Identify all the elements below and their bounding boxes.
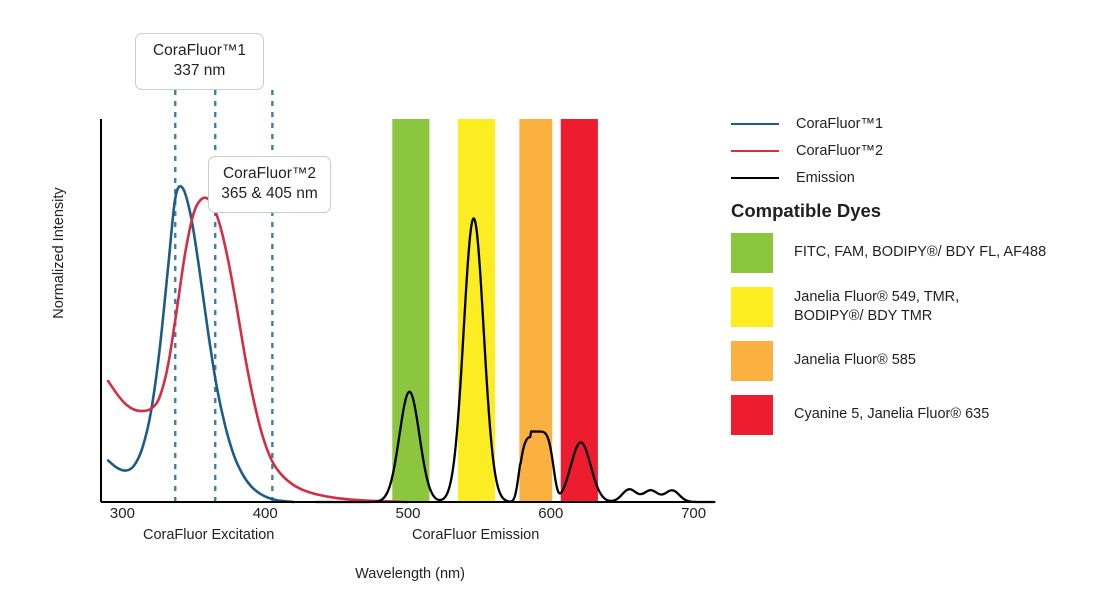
range-label-excitation: CoraFluor Excitation <box>143 527 274 543</box>
dye-item-4: Cyanine 5, Janelia Fluor® 635 <box>731 395 1091 435</box>
spectra-figure: CoraFluor™1 337 nm CoraFluor™2 365 & 405… <box>0 0 1110 612</box>
legend-item-label: CoraFluor™2 <box>796 143 883 159</box>
dye-item-2: Janelia Fluor® 549, TMR,BODIPY®/ BDY TMR <box>731 287 1091 327</box>
legend-item-label: Emission <box>796 170 855 186</box>
curve-emission <box>315 218 714 502</box>
dye-color-swatch <box>731 233 773 273</box>
legend-line-swatch <box>731 150 779 152</box>
compatible-dyes-list: FITC, FAM, BODIPY®/ BDY FL, AF488Janelia… <box>731 233 1091 449</box>
dye-color-swatch <box>731 341 773 381</box>
x-tick-500: 500 <box>378 505 438 522</box>
y-axis-title: Normalized Intensity <box>51 173 67 333</box>
series-legend: CoraFluor™1CoraFluor™2Emission <box>731 110 1071 191</box>
x-tick-400: 400 <box>235 505 295 522</box>
legend-line-swatch <box>731 123 779 125</box>
callout-cf2-line2: 365 & 405 nm <box>221 184 318 204</box>
legend-item-2: CoraFluor™2 <box>731 137 1071 164</box>
dye-item-label: Cyanine 5, Janelia Fluor® 635 <box>794 405 989 424</box>
spectra-plot <box>0 0 760 560</box>
curve-corafluor-1 <box>108 186 294 502</box>
x-tick-300: 300 <box>92 505 152 522</box>
callout-corafluor-2: CoraFluor™2 365 & 405 nm <box>208 156 331 213</box>
dye-item-3: Janelia Fluor® 585 <box>731 341 1091 381</box>
dye-item-label: FITC, FAM, BODIPY®/ BDY FL, AF488 <box>794 243 1046 262</box>
curve-corafluor-2 <box>108 198 408 502</box>
dye-item-label: Janelia Fluor® 585 <box>794 351 916 370</box>
callout-cf1-line1: CoraFluor™1 <box>148 41 251 61</box>
dye-item-label: Janelia Fluor® 549, TMR,BODIPY®/ BDY TMR <box>794 288 959 327</box>
callout-corafluor-1: CoraFluor™1 337 nm <box>135 33 264 90</box>
legend-item-label: CoraFluor™1 <box>796 116 883 132</box>
dye-item-line1: FITC, FAM, BODIPY®/ BDY FL, AF488 <box>794 243 1046 262</box>
callout-cf2-line1: CoraFluor™2 <box>221 164 318 184</box>
legend-item-1: CoraFluor™1 <box>731 110 1071 137</box>
legend-item-3: Emission <box>731 164 1071 191</box>
dye-item-line2: BODIPY®/ BDY TMR <box>794 307 959 326</box>
x-axis-title: Wavelength (nm) <box>0 566 820 582</box>
x-tick-700: 700 <box>664 505 724 522</box>
dye-color-swatch <box>731 287 773 327</box>
dye-item-1: FITC, FAM, BODIPY®/ BDY FL, AF488 <box>731 233 1091 273</box>
compatible-dyes-title: Compatible Dyes <box>731 200 881 222</box>
yellow-band <box>458 119 495 502</box>
dye-color-swatch <box>731 395 773 435</box>
dye-item-line1: Cyanine 5, Janelia Fluor® 635 <box>794 405 989 424</box>
x-tick-600: 600 <box>521 505 581 522</box>
legend-line-swatch <box>731 177 779 179</box>
range-label-emission: CoraFluor Emission <box>412 527 539 543</box>
dye-item-line1: Janelia Fluor® 585 <box>794 351 916 370</box>
callout-cf1-line2: 337 nm <box>148 61 251 81</box>
dye-item-line1: Janelia Fluor® 549, TMR, <box>794 288 959 307</box>
